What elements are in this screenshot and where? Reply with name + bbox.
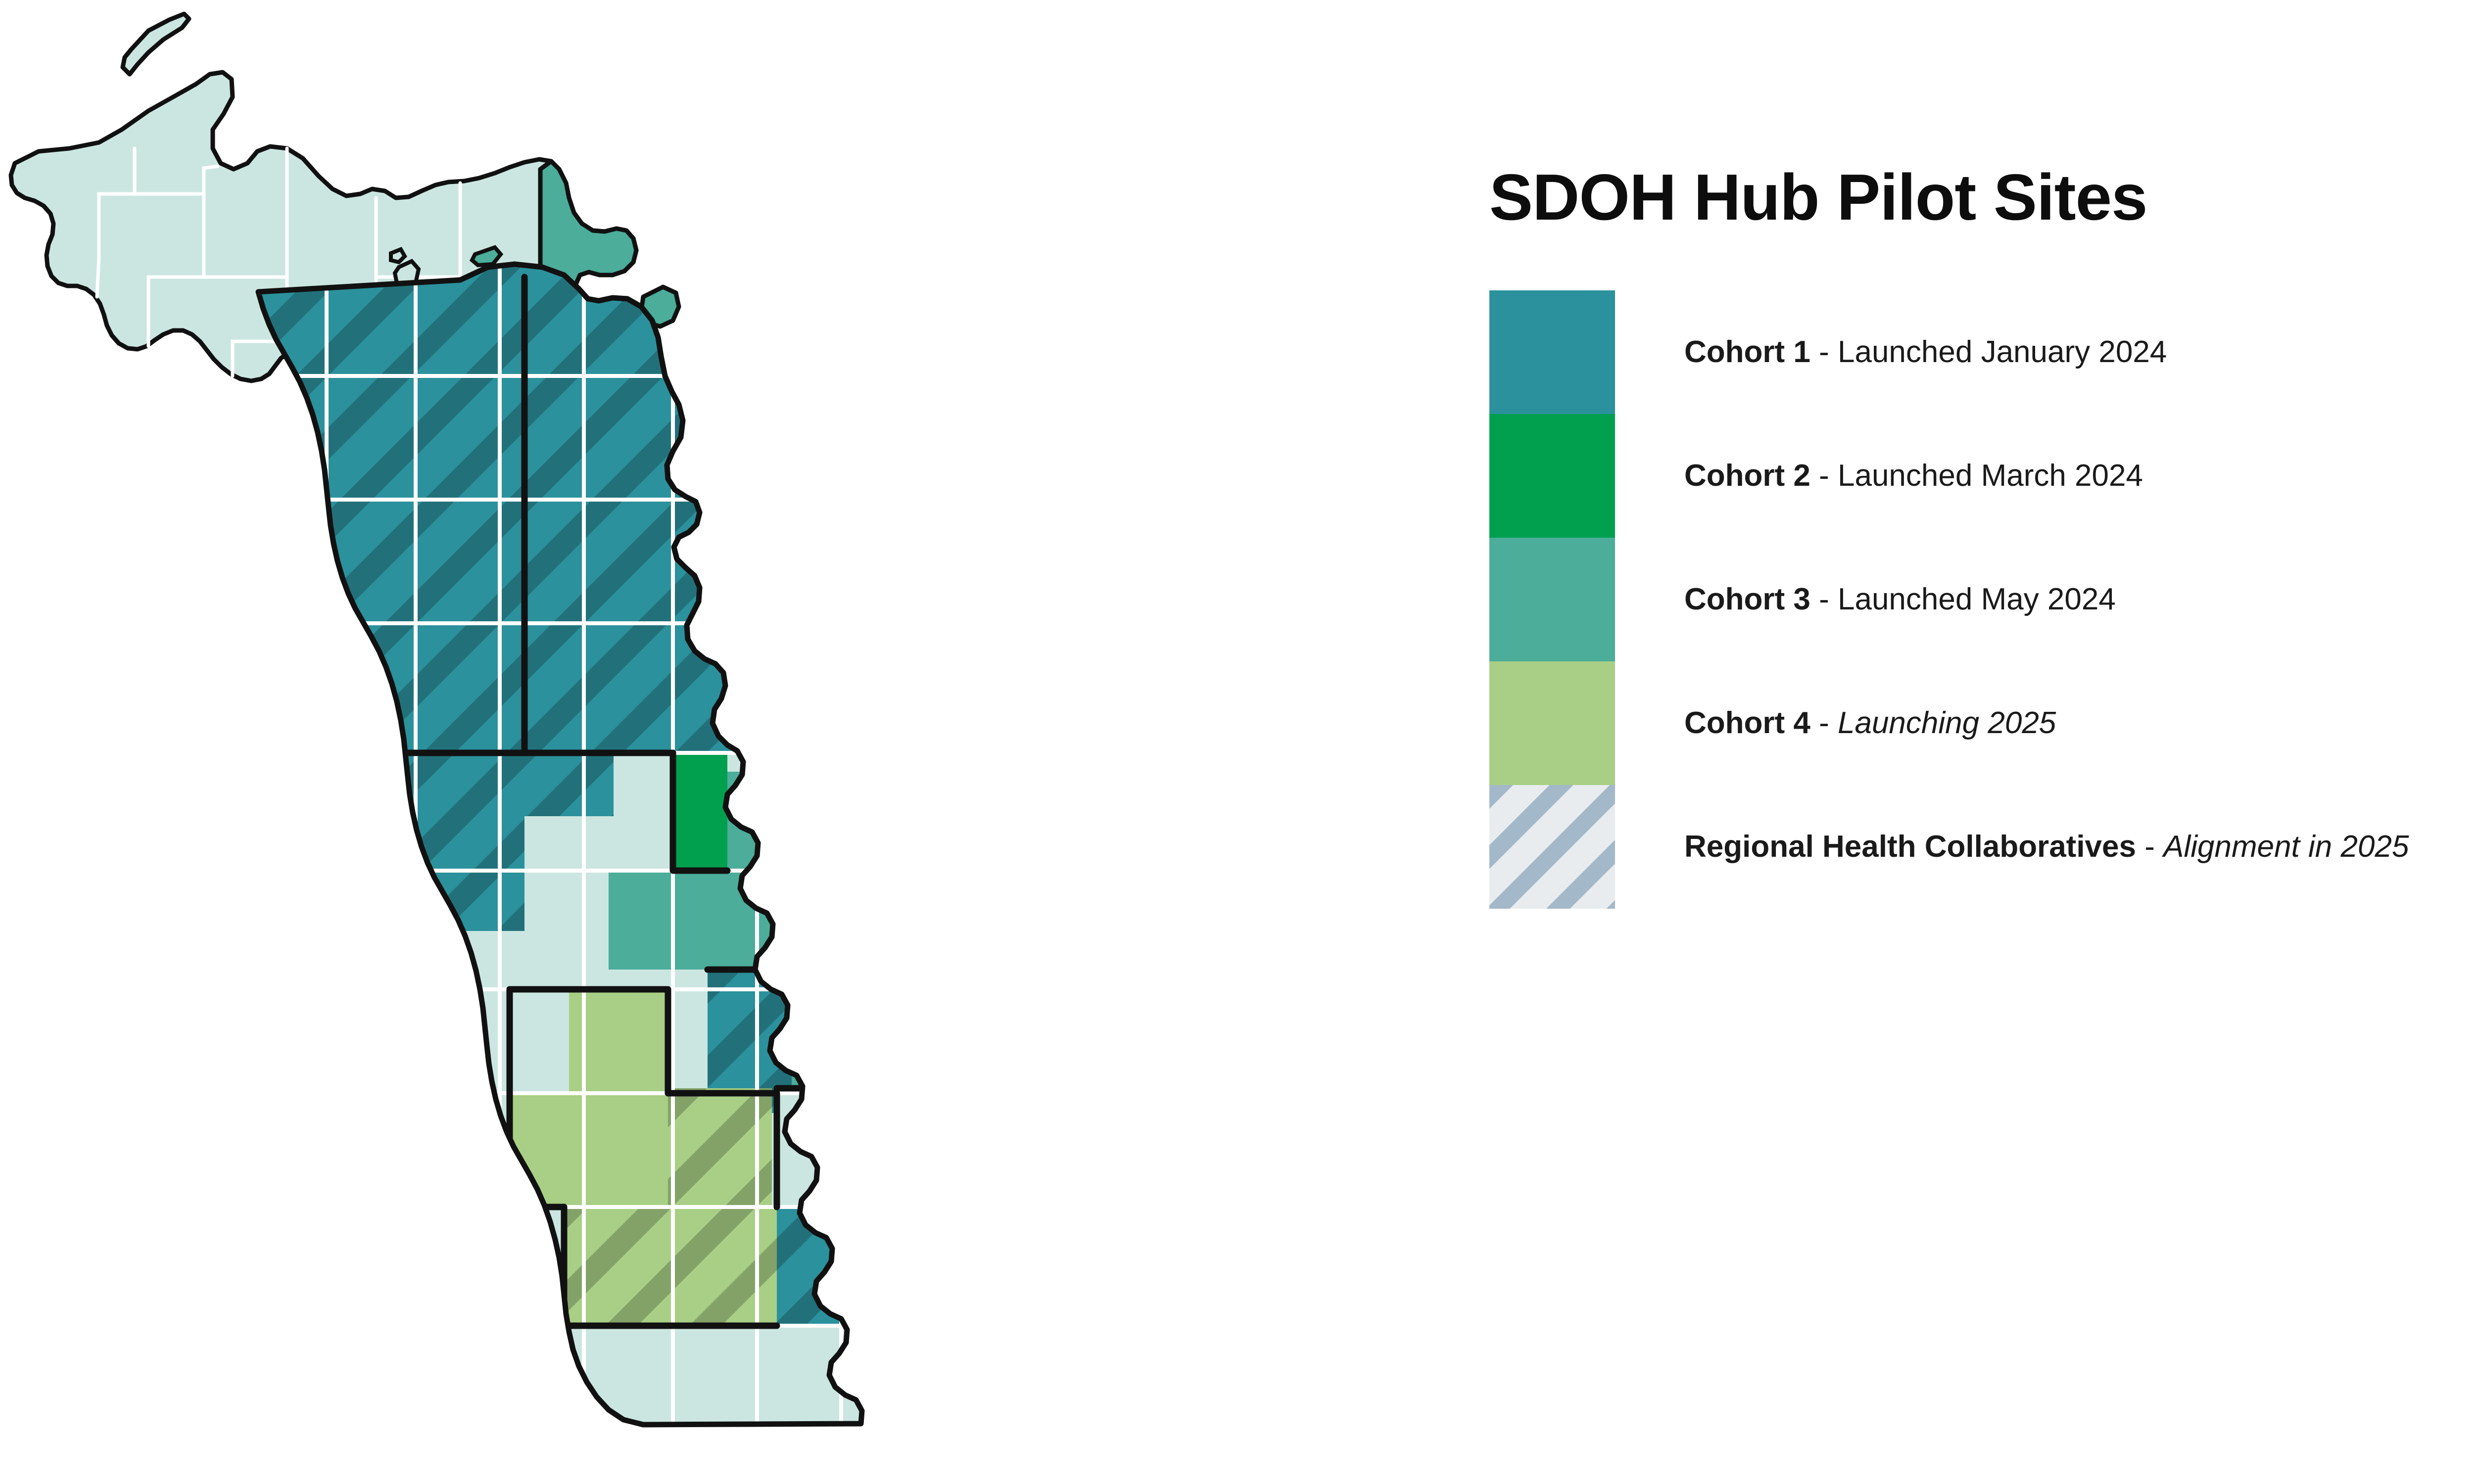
legend-label-cohort-3: Cohort 3 - Launched May 2024 xyxy=(1684,580,2116,619)
legend-swatch-cohort-1 xyxy=(1489,290,1615,414)
legend-desc-cohort-3: Launched May 2024 xyxy=(1838,582,2116,616)
county-area-berrien xyxy=(247,1266,327,1425)
county-area-mid-south xyxy=(510,1093,668,1207)
county-area-saginaw xyxy=(609,871,727,970)
legend-label-cohort-2: Cohort 2 - Launched March 2024 xyxy=(1684,457,2143,495)
legend-desc-cohort-2: Launched March 2024 xyxy=(1838,459,2143,493)
legend-panel: SDOH Hub Pilot Sites Cohort 1 - Launched… xyxy=(1489,163,2474,909)
legend-sep-cohort-1: - xyxy=(1810,335,1838,369)
legend-row-cohort-1: Cohort 1 - Launched January 2024 xyxy=(1489,290,2474,414)
legend-name-regional-health-collaboratives: Regional Health Collaboratives xyxy=(1684,830,2136,864)
legend-desc-regional-health-collaboratives: Alignment in 2025 xyxy=(2163,830,2409,864)
lower-peninsula-fills xyxy=(247,257,925,1444)
county-unassigned-pocket-a xyxy=(524,816,614,931)
legend-row-cohort-2: Cohort 2 - Launched March 2024 xyxy=(1489,414,2474,538)
county-area-kent xyxy=(346,965,455,1162)
legend-name-cohort-2: Cohort 2 xyxy=(1684,459,1810,493)
county-area-muskegon xyxy=(247,931,346,1014)
county-area-south-central xyxy=(564,1207,777,1326)
legend-label-cohort-1: Cohort 1 - Launched January 2024 xyxy=(1684,333,2167,371)
legend-name-cohort-1: Cohort 1 xyxy=(1684,335,1810,369)
island-small-a xyxy=(391,249,405,262)
legend-sep-cohort-4: - xyxy=(1810,706,1838,740)
hatch-pattern-icon xyxy=(1489,785,1615,909)
legend-swatch-cohort-4 xyxy=(1489,661,1615,785)
michigan-county-map xyxy=(0,0,1395,1484)
legend-row-cohort-3: Cohort 3 - Launched May 2024 xyxy=(1489,538,2474,661)
michigan-map-panel xyxy=(0,0,1395,1484)
legend-row-cohort-4: Cohort 4 - Launching 2025 xyxy=(1489,661,2474,785)
legend-desc-cohort-4: Launching 2025 xyxy=(1838,706,2056,740)
legend-name-cohort-3: Cohort 3 xyxy=(1684,582,1810,616)
legend-sep-cohort-3: - xyxy=(1810,582,1838,616)
county-area-bay-strip xyxy=(673,753,727,871)
legend-sep-regional-health-collaboratives: - xyxy=(2136,830,2163,864)
county-area-north-lower xyxy=(247,257,901,753)
legend-swatch-regional-health-collaboratives xyxy=(1489,785,1615,909)
legend-label-cohort-4: Cohort 4 - Launching 2025 xyxy=(1684,704,2056,742)
county-area-isle-royale xyxy=(123,14,189,74)
county-area-wayne xyxy=(777,1207,905,1326)
legend-sep-cohort-2: - xyxy=(1810,459,1838,493)
legend-name-cohort-4: Cohort 4 xyxy=(1684,706,1810,740)
legend-label-regional-health-collaboratives: Regional Health Collaboratives - Alignme… xyxy=(1684,828,2409,866)
county-area-thumb xyxy=(727,772,901,989)
legend-row-regional-health-collaboratives: Regional Health Collaboratives - Alignme… xyxy=(1489,785,2474,909)
legend-swatch-cohort-3 xyxy=(1489,538,1615,661)
legend-desc-cohort-1: Launched January 2024 xyxy=(1838,335,2167,369)
legend-swatch-cohort-2 xyxy=(1489,414,1615,538)
legend-title: SDOH Hub Pilot Sites xyxy=(1489,163,2474,232)
